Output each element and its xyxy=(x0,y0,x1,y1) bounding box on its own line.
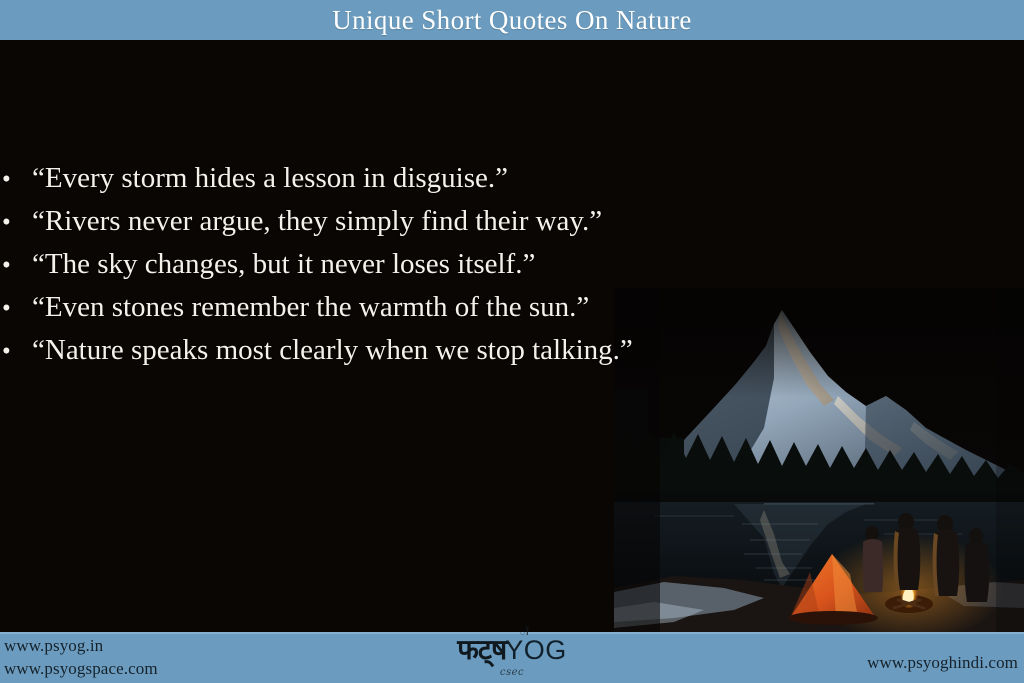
bullet-icon: • xyxy=(0,203,32,244)
bullet-icon: • xyxy=(0,246,32,287)
logo-subtitle: csec xyxy=(500,667,524,678)
quotes-section: •“Every storm hides a lesson in disguise… xyxy=(0,40,614,632)
footer-link-psyoghindi[interactable]: www.psyoghindi.com xyxy=(867,652,1018,674)
quote-text: “Rivers never argue, they simply find th… xyxy=(32,205,602,237)
quote-text: “The sky changes, but it never loses its… xyxy=(32,248,535,280)
bullet-icon: • xyxy=(0,332,32,373)
nature-photo xyxy=(614,288,1024,632)
header-band: Unique Short Quotes On Nature xyxy=(0,0,1024,40)
quote-text: “Nature speaks most clearly when we stop… xyxy=(32,334,633,366)
bullet-icon: • xyxy=(0,289,32,330)
footer-band: www.psyog.in www.psyogspace.com ॉ फट्षYO… xyxy=(0,632,1024,683)
footer-link-psyogspace[interactable]: www.psyogspace.com xyxy=(4,657,158,680)
quote-list: •“Every storm hides a lesson in disguise… xyxy=(0,158,660,373)
list-item: •“Rivers never argue, they simply find t… xyxy=(0,201,660,244)
list-item: •“The sky changes, but it never loses it… xyxy=(0,244,660,287)
logo-devanagari: फट्ष xyxy=(457,636,506,664)
quote-text: “Even stones remember the warmth of the … xyxy=(32,291,589,323)
page-title: Unique Short Quotes On Nature xyxy=(332,7,692,34)
footer-left-links: www.psyog.in www.psyogspace.com xyxy=(4,634,158,680)
footer-link-psyog[interactable]: www.psyog.in xyxy=(4,634,158,657)
list-item: •“Nature speaks most clearly when we sto… xyxy=(0,330,660,373)
quote-poster: Unique Short Quotes On Nature xyxy=(0,0,1024,683)
bullet-icon: • xyxy=(0,160,32,201)
logo-latin: YOG xyxy=(505,637,567,664)
nature-photo-illustration xyxy=(614,288,1024,632)
brand-logo[interactable]: ॉ फट्षYOG csec xyxy=(417,632,607,683)
list-item: •“Even stones remember the warmth of the… xyxy=(0,287,660,330)
logo-diacritic-icon: ॉ xyxy=(519,626,528,637)
quote-text: “Every storm hides a lesson in disguise.… xyxy=(32,162,508,194)
logo-wordmark: ॉ फट्षYOG xyxy=(457,632,566,664)
list-item: •“Every storm hides a lesson in disguise… xyxy=(0,158,660,201)
